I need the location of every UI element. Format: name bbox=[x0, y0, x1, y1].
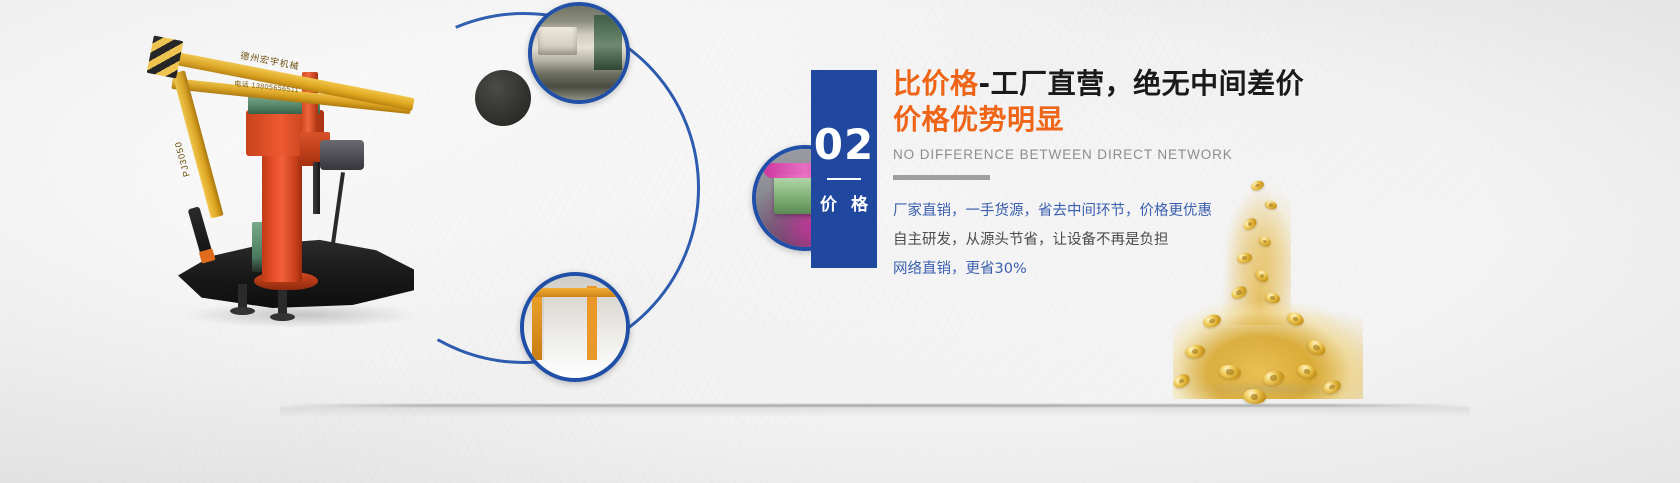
english-subtitle: NO DIFFERENCE BETWEEN DIRECT NETWORK bbox=[893, 147, 1593, 162]
product-visual: 德州宏宇机械 电话 13805656511 PJ3050 bbox=[150, 0, 770, 420]
crane-handle bbox=[188, 206, 213, 255]
jib-crane-illustration: 德州宏宇机械 电话 13805656511 PJ3050 bbox=[150, 22, 510, 382]
coin bbox=[1243, 388, 1267, 405]
gold-coins-graphic bbox=[1155, 175, 1370, 405]
photo-workshop-manipulator bbox=[520, 272, 630, 382]
headline-line2: 价格优势明显 bbox=[893, 102, 1593, 138]
promo-banner: 德州宏宇机械 电话 13805656511 PJ3050 02 价 格 比价格-… bbox=[0, 0, 1680, 483]
step-badge: 02 价 格 bbox=[811, 70, 877, 268]
motor-icon bbox=[320, 140, 364, 170]
step-number: 02 bbox=[814, 124, 874, 166]
crane-foot bbox=[278, 290, 287, 316]
crane-rod bbox=[313, 162, 320, 214]
photo-machine-shop-image bbox=[532, 6, 626, 100]
bottom-divider bbox=[280, 404, 1470, 407]
headline-line1: 比价格-工厂直营，绝无中间差价 bbox=[893, 66, 1593, 102]
photo-machine-shop bbox=[528, 2, 630, 104]
photo-workshop-manipulator-image bbox=[524, 276, 626, 378]
decorative-dash bbox=[893, 175, 990, 180]
badge-divider bbox=[827, 178, 861, 180]
crane-rod-secondary bbox=[331, 172, 345, 244]
headline-accent: 比价格 bbox=[893, 67, 979, 100]
product-model-text: PJ3050 bbox=[173, 140, 192, 178]
headline-rest: -工厂直营，绝无中间差价 bbox=[979, 67, 1305, 100]
step-label: 价 格 bbox=[816, 190, 872, 215]
crane-foot bbox=[238, 284, 247, 310]
